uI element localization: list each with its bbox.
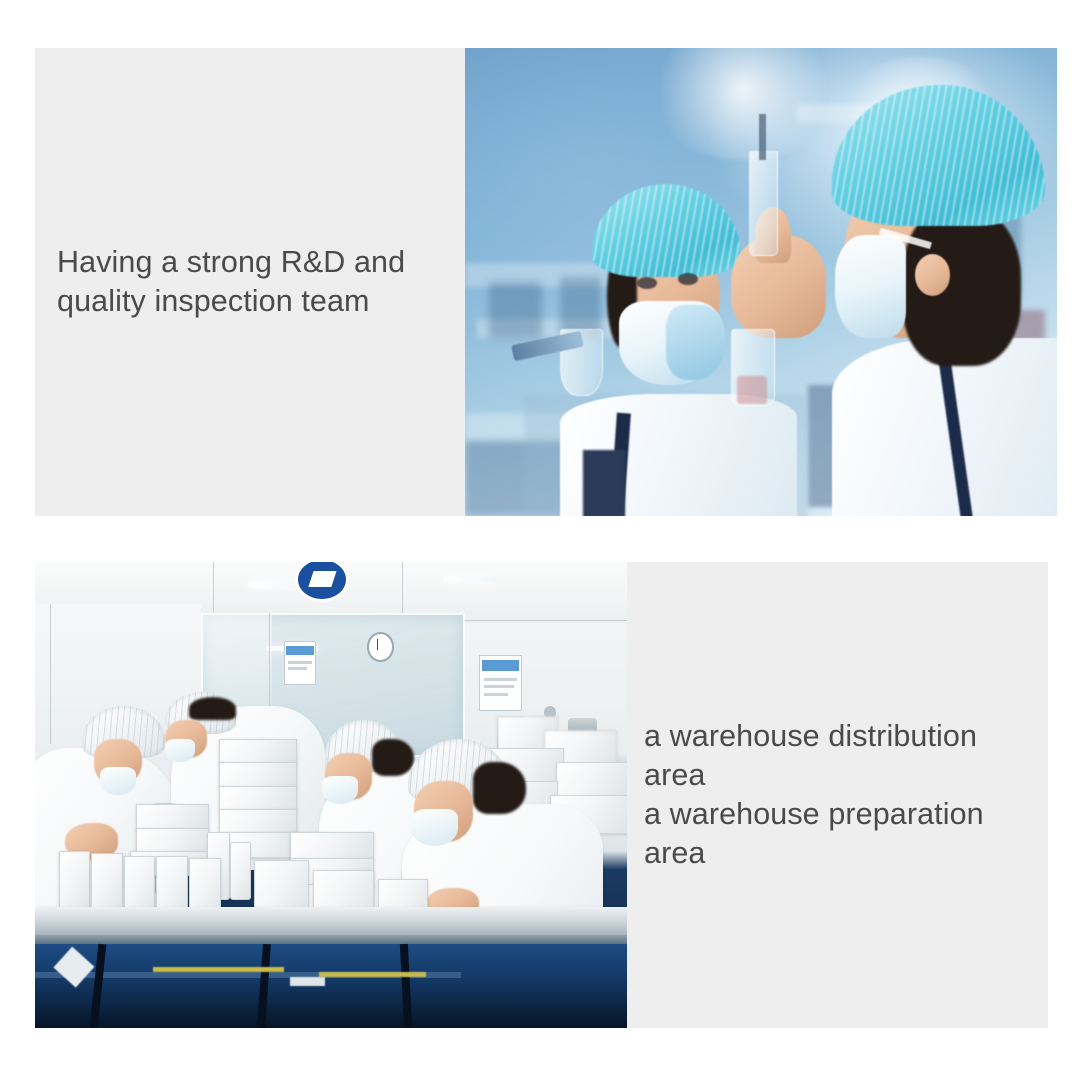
poster-1-line-2 [288,667,308,670]
technician-left-eye-right [678,273,698,285]
fg-carton-1 [59,851,91,914]
poster-1-line-1 [288,661,313,664]
caption-warehouse-line-1: a warehouse distribution area [644,719,977,792]
clock-hand [377,639,378,649]
worker-d-hair [473,762,526,813]
floor-yellow-marking-2 [319,972,426,977]
worker-b-face-mask [165,739,195,762]
caption-warehouse: a warehouse distribution areaa warehouse… [644,717,1040,873]
carton-stack-b-1 [136,804,209,829]
fg-carton-wide-1 [254,860,309,913]
poster-2-line-1 [484,678,517,681]
bg-box-4 [556,762,627,797]
cleanroom-scene [35,562,627,1028]
worker-c-face-mask [322,776,358,804]
wall-clock [367,632,395,662]
blue-safety-sign [298,562,345,599]
flask-liquid [737,376,767,404]
carton-stack-a-3 [219,786,298,811]
caption-rnd-quality: Having a strong R&D andquality inspectio… [57,243,405,321]
section-rnd-quality: Having a strong R&D andquality inspectio… [35,48,1057,516]
caption-rnd-line-1: Having a strong R&D and [57,245,405,279]
worker-d-face-mask [411,809,458,846]
poster-1-header [286,646,313,655]
caption-warehouse-line-2: a warehouse preparation area [644,797,984,870]
carton-stack-a-1 [219,739,298,764]
under-table-area [35,944,627,1028]
technician-right-face-mask [835,235,906,338]
floor-yellow-marking-1 [153,967,283,972]
carton-stack-a-2 [219,762,298,787]
warehouse-packing-photo [35,562,627,1028]
poster-2-line-2 [484,685,514,688]
carton-stack-c-1 [290,832,375,860]
vial-pipette-tip [759,114,766,161]
lab-quality-inspection-photo [465,48,1057,516]
wall-poster-2 [479,655,522,711]
technician-left-inner-shirt [583,450,624,516]
stainless-table-edge [35,935,627,944]
poster-canvas: Having a strong R&D andquality inspectio… [0,0,1080,1080]
lab-scene [465,48,1057,516]
caption-rnd-line-2: quality inspection team [57,284,370,318]
caption-pane-left: Having a strong R&D andquality inspectio… [35,48,465,516]
poster-2-header [482,660,518,671]
white-bottle-2 [230,842,251,900]
wall-poster-1 [284,641,317,685]
worker-a-face-mask [100,767,136,795]
poster-2-line-3 [484,693,508,696]
stainless-table-top [35,907,627,937]
left-wall-seam [50,604,51,744]
lab-equipment-left [489,282,542,338]
sample-vial [749,151,778,256]
worker-b-dark-cap [189,697,236,720]
caption-pane-right: a warehouse distribution areaa warehouse… [627,562,1048,1028]
section-warehouse: a warehouse distribution areaa warehouse… [35,562,1048,1028]
floor-white-scrap-2 [290,977,326,986]
ceiling-light-2 [443,576,496,583]
carton-stack-b-2 [136,828,209,853]
worker-c-hair [372,739,413,776]
carton-stack-a-4 [219,809,298,834]
